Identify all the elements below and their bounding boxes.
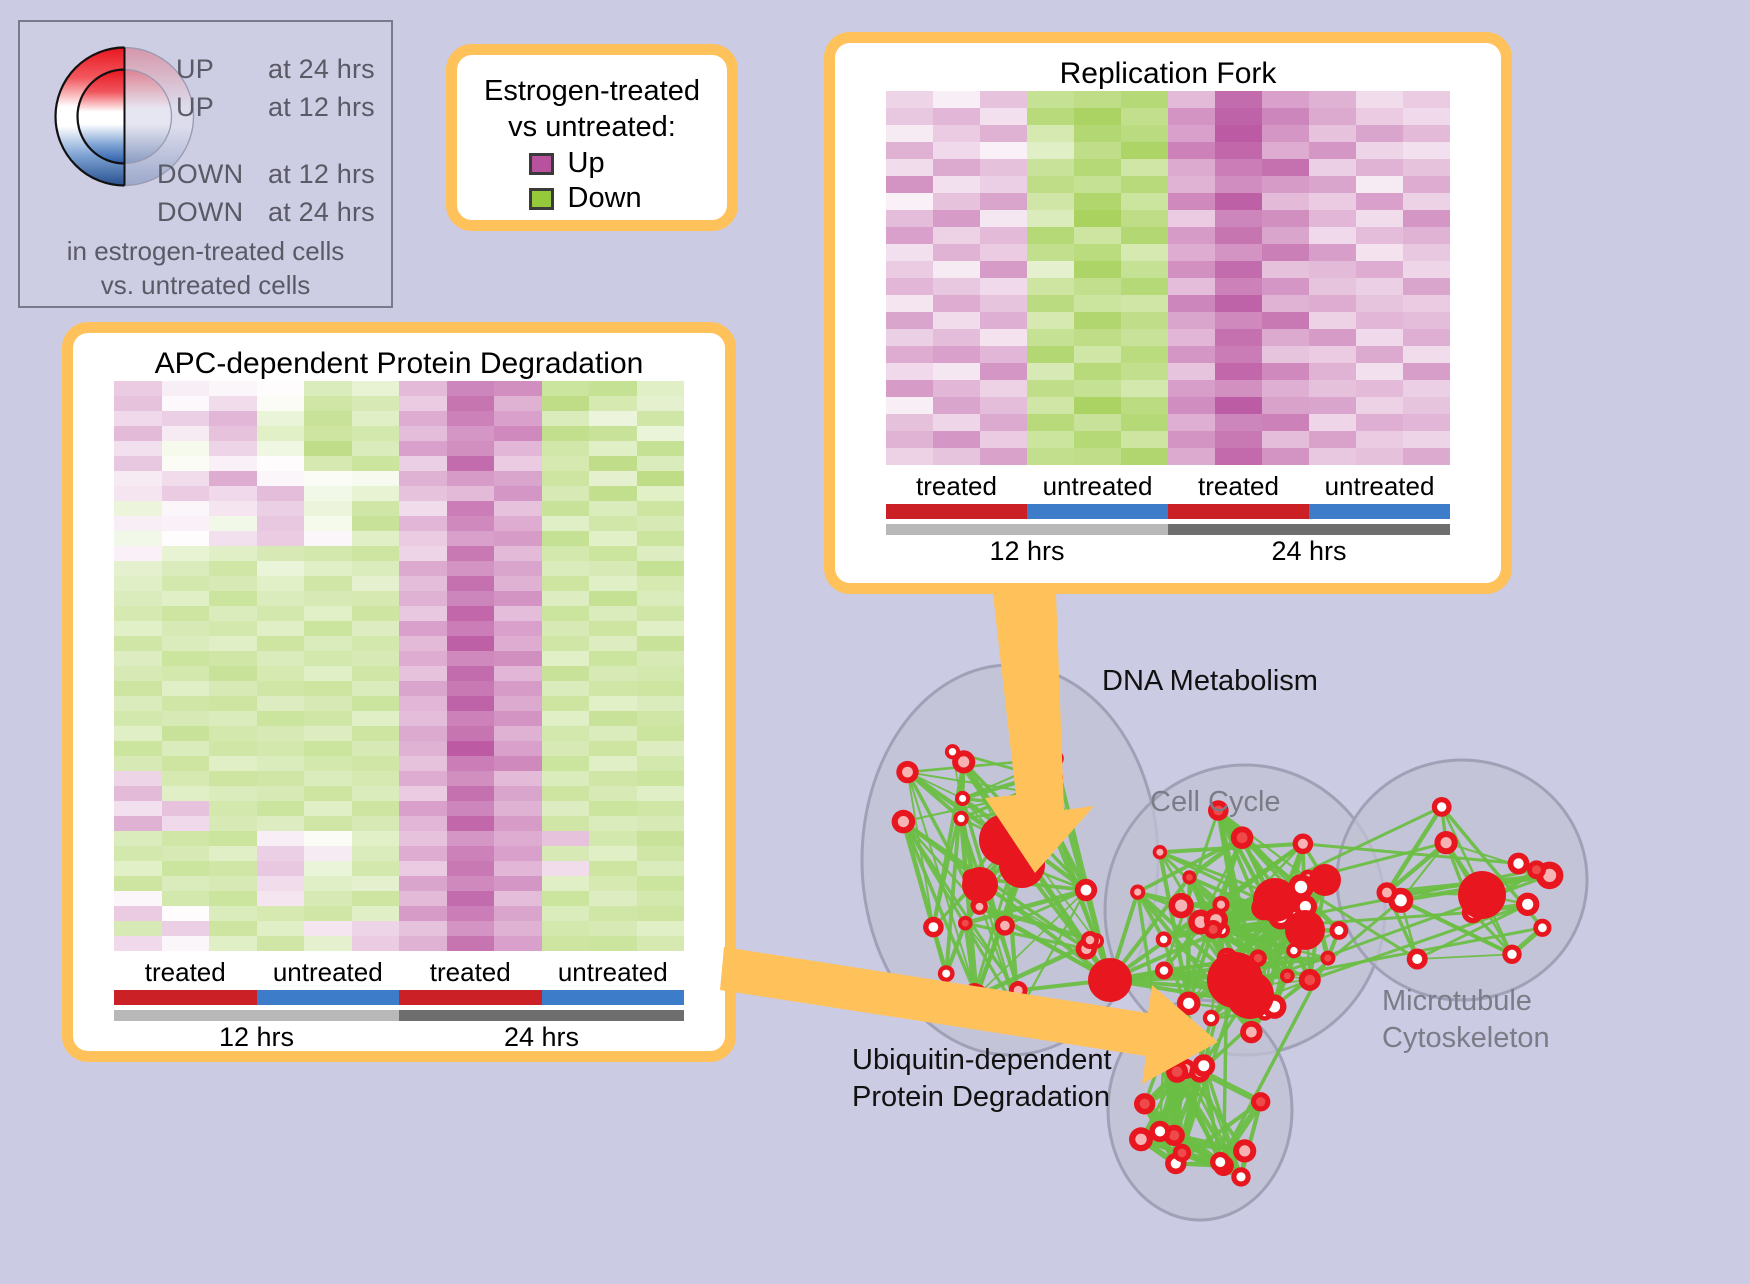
heatmap-cell bbox=[447, 756, 495, 771]
heatmap-cell bbox=[162, 606, 210, 621]
heatmap-cell bbox=[589, 591, 637, 606]
heatmap-cell bbox=[637, 681, 685, 696]
heatmap-cell bbox=[304, 381, 352, 396]
heatmap-cell bbox=[1168, 227, 1215, 244]
heatmap-cell bbox=[447, 741, 495, 756]
heatmap-cell bbox=[1027, 380, 1074, 397]
heatmap-cell bbox=[399, 741, 447, 756]
column-group-label: untreated bbox=[542, 957, 685, 988]
heatmap-cell bbox=[1074, 125, 1121, 142]
heatmap-cell bbox=[933, 448, 980, 465]
heatmap-cell bbox=[114, 726, 162, 741]
heatmap-cell bbox=[1027, 159, 1074, 176]
heatmap-cell bbox=[352, 681, 400, 696]
heatmap-cell bbox=[352, 561, 400, 576]
heatmap-cell bbox=[980, 278, 1027, 295]
heatmap-cell bbox=[447, 381, 495, 396]
heatmap-cell bbox=[494, 741, 542, 756]
heatmap-cell bbox=[933, 125, 980, 142]
heatmap-cell bbox=[1356, 210, 1403, 227]
heatmap-cell bbox=[980, 193, 1027, 210]
key-row-up: Up bbox=[457, 147, 727, 180]
heatmap-cell bbox=[542, 516, 590, 531]
heatmap-cell bbox=[114, 441, 162, 456]
down-color-swatch bbox=[529, 188, 554, 210]
heatmap-cell bbox=[209, 891, 257, 906]
heatmap-cell bbox=[304, 801, 352, 816]
heatmap-cell bbox=[494, 381, 542, 396]
heatmap-cell bbox=[980, 448, 1027, 465]
heatmap-cell bbox=[637, 471, 685, 486]
heatmap-cell bbox=[1215, 142, 1262, 159]
heatmap-cell bbox=[542, 426, 590, 441]
heatmap-cell bbox=[1074, 346, 1121, 363]
replication-fork-time-bar bbox=[886, 524, 1450, 535]
heatmap-cell bbox=[209, 876, 257, 891]
heatmap-cell bbox=[494, 621, 542, 636]
heatmap-cell bbox=[637, 771, 685, 786]
heatmap-cell bbox=[1262, 210, 1309, 227]
heatmap-cell bbox=[542, 621, 590, 636]
heatmap-cell bbox=[304, 831, 352, 846]
heatmap-cell bbox=[209, 396, 257, 411]
heatmap-cell bbox=[257, 906, 305, 921]
heatmap-cell bbox=[1027, 244, 1074, 261]
heatmap-cell bbox=[447, 546, 495, 561]
heatmap-cell bbox=[114, 936, 162, 951]
heatmap-cell bbox=[589, 411, 637, 426]
heatmap-cell bbox=[114, 921, 162, 936]
heatmap-cell bbox=[542, 531, 590, 546]
heatmap-cell bbox=[494, 606, 542, 621]
heatmap-cell bbox=[304, 471, 352, 486]
heatmap-cell bbox=[589, 906, 637, 921]
heatmap-cell bbox=[352, 636, 400, 651]
heatmap-cell bbox=[257, 396, 305, 411]
heatmap-cell bbox=[494, 546, 542, 561]
heatmap-cell bbox=[1262, 244, 1309, 261]
treatment-bar-segment bbox=[399, 990, 542, 1005]
heatmap-cell bbox=[209, 456, 257, 471]
heatmap-cell bbox=[257, 441, 305, 456]
down-label: Down bbox=[568, 182, 656, 215]
heatmap-cell bbox=[209, 801, 257, 816]
heatmap-cell bbox=[589, 711, 637, 726]
heatmap-cell bbox=[1121, 244, 1168, 261]
heatmap-cell bbox=[399, 846, 447, 861]
heatmap-cell bbox=[114, 591, 162, 606]
heatmap-cell bbox=[1215, 448, 1262, 465]
heatmap-cell bbox=[209, 906, 257, 921]
heatmap-cell bbox=[257, 846, 305, 861]
heatmap-cell bbox=[542, 861, 590, 876]
heatmap-cell bbox=[494, 696, 542, 711]
heatmap-cell bbox=[1121, 448, 1168, 465]
heatmap-cell bbox=[114, 786, 162, 801]
heatmap-cell bbox=[114, 801, 162, 816]
heatmap-cell bbox=[447, 516, 495, 531]
heatmap-cell bbox=[304, 696, 352, 711]
heatmap-cell bbox=[1168, 397, 1215, 414]
heatmap-cell bbox=[162, 891, 210, 906]
heatmap-cell bbox=[352, 531, 400, 546]
heatmap-cell bbox=[399, 606, 447, 621]
heatmap-cell bbox=[933, 210, 980, 227]
heatmap-cell bbox=[542, 756, 590, 771]
replication-fork-heatmap bbox=[886, 91, 1450, 465]
heatmap-cell bbox=[447, 831, 495, 846]
heatmap-cell bbox=[447, 456, 495, 471]
heatmap-cell bbox=[1121, 329, 1168, 346]
apc-treatment-bar bbox=[114, 990, 684, 1005]
heatmap-cell bbox=[494, 576, 542, 591]
heatmap-cell bbox=[933, 431, 980, 448]
treatment-bar-segment bbox=[257, 990, 400, 1005]
heatmap-cell bbox=[542, 666, 590, 681]
heatmap-cell bbox=[209, 726, 257, 741]
heatmap-cell bbox=[209, 621, 257, 636]
heatmap-cell bbox=[352, 696, 400, 711]
heatmap-cell bbox=[886, 295, 933, 312]
heatmap-cell bbox=[1215, 193, 1262, 210]
column-group-label: untreated bbox=[257, 957, 400, 988]
network-node bbox=[962, 867, 998, 903]
heatmap-cell bbox=[352, 786, 400, 801]
cluster-label-ubiquitin: Ubiquitin-dependent bbox=[852, 1044, 1112, 1077]
heatmap-cell bbox=[494, 426, 542, 441]
heatmap-cell bbox=[933, 193, 980, 210]
heatmap-cell bbox=[1168, 414, 1215, 431]
heatmap-cell bbox=[933, 414, 980, 431]
heatmap-cell bbox=[933, 159, 980, 176]
heatmap-cell bbox=[494, 936, 542, 951]
heatmap-cell bbox=[1309, 193, 1356, 210]
time-bar-segment bbox=[114, 1010, 399, 1021]
heatmap-cell bbox=[886, 431, 933, 448]
heatmap-cell bbox=[447, 711, 495, 726]
heatmap-cell bbox=[1356, 159, 1403, 176]
heatmap-cell bbox=[209, 636, 257, 651]
up-color-swatch bbox=[529, 153, 554, 175]
heatmap-cell bbox=[637, 666, 685, 681]
heatmap-cell bbox=[399, 816, 447, 831]
heatmap-cell bbox=[352, 441, 400, 456]
heatmap-cell bbox=[494, 561, 542, 576]
column-group-label: treated bbox=[114, 957, 257, 988]
heatmap-cell bbox=[542, 456, 590, 471]
heatmap-cell bbox=[209, 711, 257, 726]
heatmap-cell bbox=[542, 681, 590, 696]
heatmap-cell bbox=[1215, 125, 1262, 142]
heatmap-cell bbox=[1074, 312, 1121, 329]
heatmap-cell bbox=[162, 681, 210, 696]
heatmap-cell bbox=[257, 756, 305, 771]
heatmap-cell bbox=[257, 891, 305, 906]
heatmap-cell bbox=[1215, 329, 1262, 346]
heatmap-cell bbox=[1027, 397, 1074, 414]
heatmap-cell bbox=[399, 786, 447, 801]
time-bar-segment bbox=[399, 1010, 684, 1021]
heatmap-cell bbox=[209, 546, 257, 561]
heatmap-cell bbox=[162, 831, 210, 846]
heatmap-cell bbox=[399, 726, 447, 741]
heatmap-cell bbox=[1074, 210, 1121, 227]
heatmap-cell bbox=[304, 621, 352, 636]
heatmap-cell bbox=[162, 666, 210, 681]
heatmap-cell bbox=[980, 227, 1027, 244]
heatmap-cell bbox=[886, 142, 933, 159]
heatmap-cell bbox=[304, 726, 352, 741]
heatmap-cell bbox=[162, 921, 210, 936]
heatmap-cell bbox=[447, 621, 495, 636]
heatmap-cell bbox=[1168, 193, 1215, 210]
heatmap-cell bbox=[1168, 142, 1215, 159]
heatmap-cell bbox=[933, 244, 980, 261]
heatmap-cell bbox=[114, 456, 162, 471]
heatmap-cell bbox=[980, 142, 1027, 159]
heatmap-cell bbox=[1121, 91, 1168, 108]
heatmap-cell bbox=[257, 876, 305, 891]
heatmap-cell bbox=[114, 816, 162, 831]
heatmap-cell bbox=[162, 486, 210, 501]
heatmap-cell bbox=[1074, 448, 1121, 465]
heatmap-cell bbox=[399, 441, 447, 456]
treatment-bar-segment bbox=[1027, 504, 1168, 519]
heatmap-cell bbox=[1356, 176, 1403, 193]
heatmap-cell bbox=[1215, 278, 1262, 295]
network-node bbox=[1088, 958, 1132, 1002]
heatmap-cell bbox=[257, 501, 305, 516]
network-node bbox=[1285, 910, 1325, 950]
heatmap-cell bbox=[1074, 261, 1121, 278]
heatmap-cell bbox=[1262, 414, 1309, 431]
heatmap-cell bbox=[1356, 295, 1403, 312]
heatmap-cell bbox=[494, 531, 542, 546]
heatmap-cell bbox=[589, 921, 637, 936]
heatmap-cell bbox=[1356, 108, 1403, 125]
treatment-bar-segment bbox=[886, 504, 1027, 519]
heatmap-cell bbox=[542, 396, 590, 411]
heatmap-cell bbox=[933, 91, 980, 108]
heatmap-cell bbox=[352, 726, 400, 741]
heatmap-cell bbox=[257, 741, 305, 756]
heatmap-cell bbox=[886, 312, 933, 329]
heatmap-cell bbox=[257, 576, 305, 591]
heatmap-cell bbox=[637, 651, 685, 666]
heatmap-cell bbox=[637, 846, 685, 861]
heatmap-cell bbox=[1262, 159, 1309, 176]
heatmap-cell bbox=[1027, 142, 1074, 159]
heatmap-cell bbox=[1262, 448, 1309, 465]
heatmap-cell bbox=[542, 651, 590, 666]
heatmap-cell bbox=[257, 471, 305, 486]
heatmap-cell bbox=[304, 441, 352, 456]
heatmap-cell bbox=[1121, 176, 1168, 193]
heatmap-cell bbox=[1356, 91, 1403, 108]
heatmap-cell bbox=[980, 125, 1027, 142]
heatmap-cell bbox=[304, 606, 352, 621]
heatmap-cell bbox=[494, 876, 542, 891]
heatmap-cell bbox=[304, 681, 352, 696]
heatmap-cell bbox=[1168, 210, 1215, 227]
heatmap-cell bbox=[447, 486, 495, 501]
heatmap-cell bbox=[1356, 346, 1403, 363]
heatmap-cell bbox=[1215, 91, 1262, 108]
heatmap-cell bbox=[542, 921, 590, 936]
heatmap-cell bbox=[304, 516, 352, 531]
heatmap-cell bbox=[352, 771, 400, 786]
heatmap-cell bbox=[399, 426, 447, 441]
heatmap-cell bbox=[1262, 278, 1309, 295]
heatmap-cell bbox=[886, 414, 933, 431]
heatmap-cell bbox=[1074, 295, 1121, 312]
heatmap-cell bbox=[352, 471, 400, 486]
heatmap-cell bbox=[1403, 227, 1450, 244]
heatmap-cell bbox=[637, 621, 685, 636]
legend-down24-label: DOWN bbox=[157, 197, 243, 228]
heatmap-cell bbox=[1215, 227, 1262, 244]
heatmap-cell bbox=[589, 456, 637, 471]
heatmap-cell bbox=[589, 396, 637, 411]
heatmap-cell bbox=[980, 380, 1027, 397]
heatmap-cell bbox=[209, 786, 257, 801]
column-group-label: treated bbox=[886, 471, 1027, 502]
heatmap-cell bbox=[494, 756, 542, 771]
heatmap-cell bbox=[542, 741, 590, 756]
apc-dependent-panel: APC-dependent Protein Degradation treate… bbox=[62, 322, 736, 1062]
heatmap-cell bbox=[886, 244, 933, 261]
heatmap-cell bbox=[1027, 210, 1074, 227]
heatmap-cell bbox=[1403, 176, 1450, 193]
heatmap-cell bbox=[494, 861, 542, 876]
heatmap-cell bbox=[1074, 380, 1121, 397]
heatmap-cell bbox=[352, 516, 400, 531]
legend-up12-label: UP bbox=[176, 92, 214, 123]
heatmap-cell bbox=[637, 726, 685, 741]
heatmap-cell bbox=[886, 346, 933, 363]
heatmap-cell bbox=[494, 906, 542, 921]
heatmap-cell bbox=[162, 861, 210, 876]
heatmap-cell bbox=[1121, 261, 1168, 278]
heatmap-cell bbox=[257, 456, 305, 471]
heatmap-cell bbox=[304, 396, 352, 411]
heatmap-cell bbox=[447, 861, 495, 876]
heatmap-cell bbox=[162, 816, 210, 831]
heatmap-cell bbox=[352, 921, 400, 936]
heatmap-cell bbox=[352, 876, 400, 891]
heatmap-cell bbox=[257, 711, 305, 726]
treatment-bar-segment bbox=[1309, 504, 1450, 519]
heatmap-cell bbox=[352, 546, 400, 561]
apc-heatmap bbox=[114, 381, 684, 951]
heatmap-cell bbox=[399, 546, 447, 561]
heatmap-cell bbox=[447, 696, 495, 711]
heatmap-cell bbox=[257, 636, 305, 651]
heatmap-cell bbox=[399, 861, 447, 876]
heatmap-cell bbox=[1121, 125, 1168, 142]
heatmap-cell bbox=[542, 876, 590, 891]
heatmap-cell bbox=[1262, 261, 1309, 278]
heatmap-cell bbox=[1074, 278, 1121, 295]
heatmap-cell bbox=[352, 816, 400, 831]
heatmap-cell bbox=[447, 786, 495, 801]
heatmap-cell bbox=[637, 696, 685, 711]
heatmap-cell bbox=[1356, 125, 1403, 142]
heatmap-cell bbox=[1309, 329, 1356, 346]
heatmap-cell bbox=[209, 921, 257, 936]
heatmap-cell bbox=[494, 651, 542, 666]
heatmap-cell bbox=[886, 261, 933, 278]
heatmap-cell bbox=[304, 906, 352, 921]
heatmap-cell bbox=[1074, 176, 1121, 193]
heatmap-cell bbox=[494, 456, 542, 471]
heatmap-cell bbox=[1027, 91, 1074, 108]
heatmap-cell bbox=[447, 636, 495, 651]
heatmap-cell bbox=[399, 396, 447, 411]
heatmap-cell bbox=[637, 411, 685, 426]
heatmap-cell bbox=[1121, 363, 1168, 380]
heatmap-cell bbox=[162, 531, 210, 546]
heatmap-cell bbox=[304, 756, 352, 771]
heatmap-cell bbox=[399, 501, 447, 516]
heatmap-cell bbox=[980, 159, 1027, 176]
network-node bbox=[999, 842, 1045, 888]
heatmap-cell bbox=[1356, 244, 1403, 261]
heatmap-cell bbox=[114, 516, 162, 531]
heatmap-cell bbox=[209, 936, 257, 951]
heatmap-cell bbox=[257, 831, 305, 846]
heatmap-cell bbox=[886, 448, 933, 465]
heatmap-cell bbox=[589, 756, 637, 771]
heatmap-cell bbox=[209, 756, 257, 771]
heatmap-cell bbox=[352, 756, 400, 771]
heatmap-cell bbox=[304, 411, 352, 426]
heatmap-cell bbox=[542, 411, 590, 426]
heatmap-cell bbox=[114, 876, 162, 891]
heatmap-cell bbox=[209, 576, 257, 591]
heatmap-cell bbox=[589, 651, 637, 666]
heatmap-cell bbox=[352, 831, 400, 846]
heatmap-cell bbox=[352, 891, 400, 906]
heatmap-cell bbox=[886, 176, 933, 193]
heatmap-cell bbox=[399, 576, 447, 591]
heatmap-cell bbox=[1262, 193, 1309, 210]
heatmap-cell bbox=[494, 666, 542, 681]
heatmap-cell bbox=[399, 411, 447, 426]
heatmap-cell bbox=[1027, 431, 1074, 448]
heatmap-cell bbox=[886, 210, 933, 227]
heatmap-cell bbox=[637, 426, 685, 441]
heatmap-cell bbox=[542, 726, 590, 741]
heatmap-cell bbox=[637, 501, 685, 516]
heatmap-cell bbox=[1262, 380, 1309, 397]
pathway-network-diagram: DNA Metabolism Cell Cycle Microtubule Cy… bbox=[790, 620, 1750, 1279]
heatmap-cell bbox=[447, 411, 495, 426]
heatmap-cell bbox=[399, 891, 447, 906]
heatmap-cell bbox=[1309, 176, 1356, 193]
heatmap-cell bbox=[1168, 176, 1215, 193]
heatmap-cell bbox=[1309, 125, 1356, 142]
heatmap-cell bbox=[637, 516, 685, 531]
legend-footer-line2: vs. untreated cells bbox=[20, 268, 391, 302]
heatmap-cell bbox=[399, 516, 447, 531]
time-bar-segment bbox=[1168, 524, 1450, 535]
heatmap-cell bbox=[1403, 295, 1450, 312]
apc-column-group-labels: treateduntreatedtreateduntreated bbox=[114, 957, 684, 988]
heatmap-cell bbox=[1121, 142, 1168, 159]
heatmap-cell bbox=[114, 576, 162, 591]
heatmap-cell bbox=[637, 936, 685, 951]
